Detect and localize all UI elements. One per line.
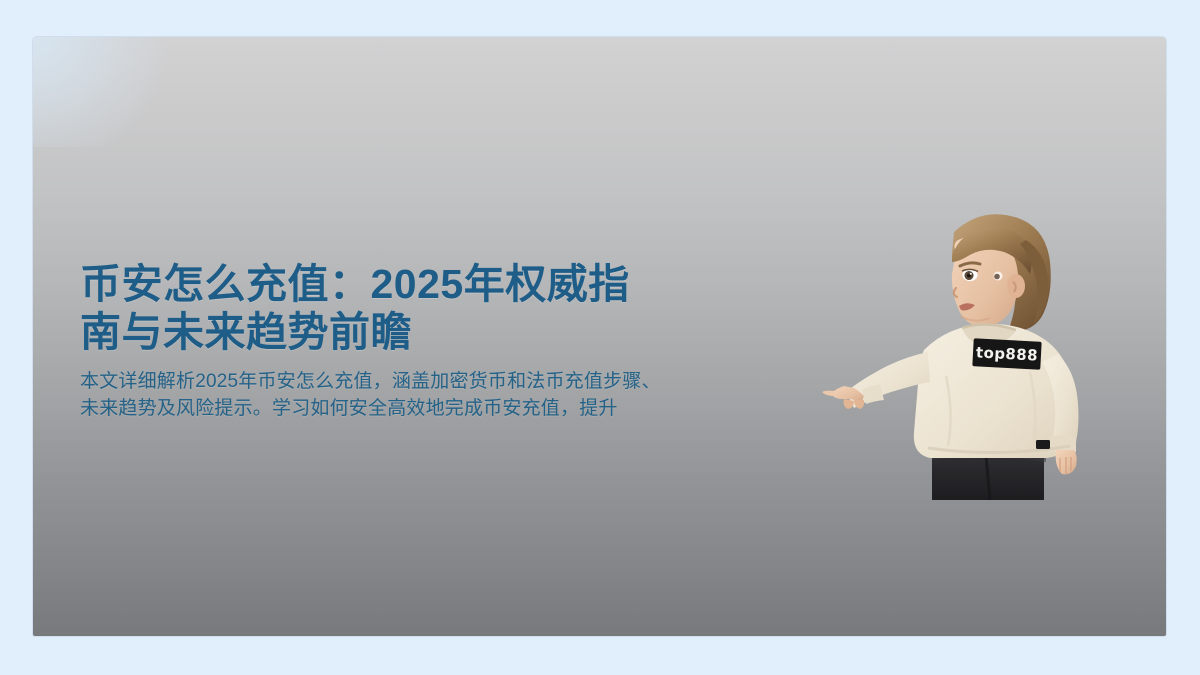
sweatshirt bbox=[822, 324, 1079, 475]
hem-tag bbox=[1036, 440, 1050, 449]
slide-frame: 币安怎么充值：2025年权威指 南与未来趋势前瞻 本文详细解析2025年币安怎么… bbox=[0, 0, 1200, 675]
head bbox=[952, 214, 1051, 330]
jeans bbox=[932, 444, 1046, 500]
banner-card: 币安怎么充值：2025年权威指 南与未来趋势前瞻 本文详细解析2025年币安怎么… bbox=[33, 37, 1166, 636]
shirt-logo-patch: top888 bbox=[972, 338, 1041, 370]
shirt-logo-text: top888 bbox=[976, 343, 1039, 364]
toddler-photo: top888 bbox=[820, 200, 1166, 540]
page-subtitle: 本文详细解析2025年币安怎么充值，涵盖加密货币和法币充值步骤、 未来趋势及风险… bbox=[80, 369, 800, 422]
hero-text-block: 币安怎么充值：2025年权威指 南与未来趋势前瞻 本文详细解析2025年币安怎么… bbox=[80, 260, 800, 422]
page-title: 币安怎么充值：2025年权威指 南与未来趋势前瞻 bbox=[80, 260, 800, 356]
